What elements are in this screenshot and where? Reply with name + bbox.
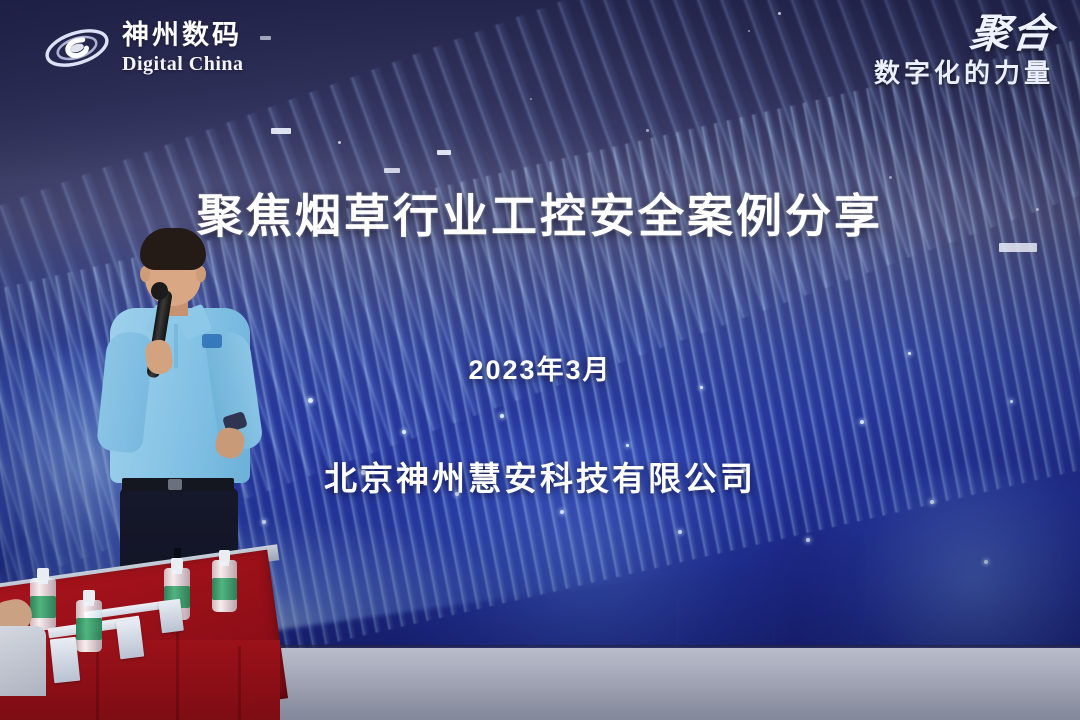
name-card xyxy=(116,619,144,660)
bottle-cap xyxy=(219,550,230,562)
speaker-belt-buckle xyxy=(168,479,182,490)
logo-english-name: Digital China xyxy=(122,54,244,74)
table-cloth-fold xyxy=(238,646,241,720)
bottle-label xyxy=(212,578,237,600)
bottle-cap xyxy=(83,590,94,602)
bottle-cap xyxy=(171,558,182,570)
logo-chinese-name: 神州数码 xyxy=(122,22,244,49)
speaker-shirt-placket xyxy=(174,324,178,368)
logo-text-block: 神州数码 Digital China xyxy=(122,22,244,74)
galaxy-swirl-icon xyxy=(44,18,110,78)
table-cloth-fold xyxy=(176,632,179,720)
speaker-chest-logo xyxy=(202,334,222,348)
bottle-cap xyxy=(37,568,48,580)
event-calligraphy-title: 聚合 xyxy=(872,14,1056,54)
water-bottle xyxy=(76,590,102,656)
water-bottle xyxy=(212,550,237,614)
name-card xyxy=(158,599,184,633)
digital-china-logo: 神州数码 Digital China xyxy=(44,18,244,78)
bottle-label xyxy=(76,618,102,640)
conference-stage-photo: 神州数码 Digital China 聚合 数字化的力量 聚焦烟草行业工控安全案… xyxy=(0,0,1080,720)
seated-attendee xyxy=(0,596,60,720)
event-brandmark: 聚合 数字化的力量 xyxy=(874,14,1054,86)
attendee-sleeve xyxy=(0,626,46,696)
event-tagline: 数字化的力量 xyxy=(874,60,1054,86)
speaker-hair xyxy=(140,228,206,270)
